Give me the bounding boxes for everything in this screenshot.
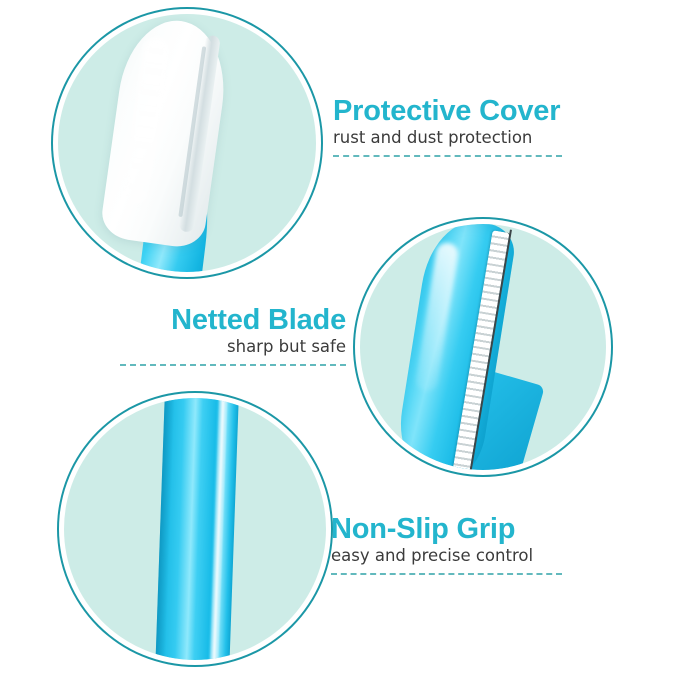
non-slip-grip-photo [64, 398, 326, 660]
callout-title-netted-blade: Netted Blade [120, 305, 346, 335]
protective-cover-shape [99, 14, 233, 250]
feature-image-netted-blade [360, 224, 606, 470]
netted-blade-photo [360, 224, 606, 470]
callout-subtitle-netted-blade: sharp but safe [120, 338, 346, 357]
callout-divider-non-slip-grip [331, 573, 562, 575]
protective-cover-photo [58, 14, 316, 272]
callout-protective-cover: Protective Cover rust and dust protectio… [333, 96, 596, 157]
cover-highlight [121, 36, 170, 208]
callout-title-protective-cover: Protective Cover [333, 96, 596, 126]
callout-netted-blade: Netted Blade sharp but safe [120, 305, 346, 366]
callout-subtitle-non-slip-grip: easy and precise control [331, 547, 596, 566]
callout-divider-protective-cover [333, 155, 562, 157]
callout-divider-netted-blade [120, 364, 346, 366]
callout-subtitle-protective-cover: rust and dust protection [333, 129, 596, 148]
product-feature-infographic: Protective Cover rust and dust protectio… [0, 0, 679, 679]
callout-title-non-slip-grip: Non-Slip Grip [331, 514, 596, 544]
feature-image-protective-cover [58, 14, 316, 272]
feature-image-non-slip-grip [64, 398, 326, 660]
callout-non-slip-grip: Non-Slip Grip easy and precise control [331, 514, 596, 575]
